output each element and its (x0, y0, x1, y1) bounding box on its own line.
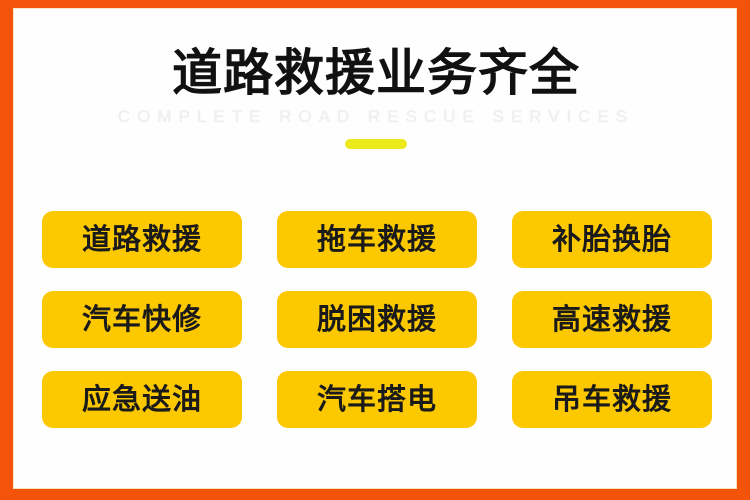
page-subtitle: COMPLETE ROAD RESCUE SERVICES (14, 101, 737, 127)
service-chip-label: 汽车搭电 (317, 385, 437, 414)
service-chip-quick-repair[interactable]: 汽车快修 (42, 291, 242, 348)
service-chip-label: 应急送油 (82, 385, 202, 414)
service-chip-highway-rescue[interactable]: 高速救援 (512, 291, 712, 348)
service-chip-tire-repair[interactable]: 补胎换胎 (512, 211, 712, 268)
service-chip-crane-rescue[interactable]: 吊车救援 (512, 371, 712, 428)
service-chip-label: 吊车救援 (552, 385, 672, 414)
service-chip-label: 补胎换胎 (552, 225, 672, 254)
service-chip-label: 脱困救援 (317, 305, 437, 334)
service-chip-emergency-fuel[interactable]: 应急送油 (42, 371, 242, 428)
service-chip-label: 道路救援 (82, 225, 202, 254)
header: 道路救援业务齐全 COMPLETE ROAD RESCUE SERVICES (14, 9, 737, 149)
service-chip-tow-rescue[interactable]: 拖车救援 (277, 211, 477, 268)
service-chip-jump-start[interactable]: 汽车搭电 (277, 371, 477, 428)
service-chip-road-rescue[interactable]: 道路救援 (42, 211, 242, 268)
page-title: 道路救援业务齐全 (14, 9, 737, 101)
service-chip-label: 高速救援 (552, 305, 672, 334)
service-chip-label: 汽车快修 (82, 305, 202, 334)
service-chip-extraction-rescue[interactable]: 脱困救援 (277, 291, 477, 348)
service-chip-label: 拖车救援 (317, 225, 437, 254)
divider (14, 127, 737, 149)
poster-frame: 道路救援业务齐全 COMPLETE ROAD RESCUE SERVICES 道… (0, 0, 750, 500)
poster-card: 道路救援业务齐全 COMPLETE ROAD RESCUE SERVICES 道… (13, 8, 737, 489)
divider-bar (345, 139, 407, 149)
service-grid: 道路救援 拖车救援 补胎换胎 汽车快修 脱困救援 高速救援 应急送油 汽车搭电 (42, 211, 712, 428)
